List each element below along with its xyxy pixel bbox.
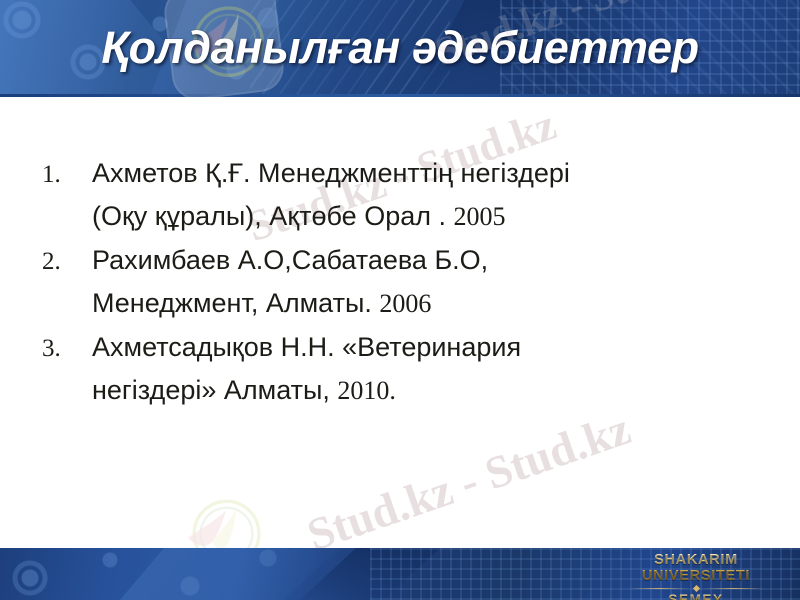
header-bottom-edge xyxy=(0,94,800,97)
list-item: Ахметов Қ.Ғ. Менеджменттің негіздері (Оқ… xyxy=(92,152,770,238)
reference-year: 2010. xyxy=(337,376,396,405)
reference-line-1: Рахимбаев А.О,Сабатаева Б.О, xyxy=(92,245,488,275)
footer-ornament-meander-pattern xyxy=(370,548,800,600)
reference-line-2: негіздері» Алматы, xyxy=(92,375,337,405)
reference-list: Ахметов Қ.Ғ. Менеджменттің негіздері (Оқ… xyxy=(40,152,770,412)
reference-line-2: Менеджмент, Алматы. xyxy=(92,288,379,318)
page-title: Қолданылған әдебиеттер xyxy=(0,22,800,74)
list-item: Ахметсадықов Н.Н. «Ветеринария негіздері… xyxy=(92,326,770,412)
watermark-lower: Stud.kz - Stud.kz xyxy=(301,402,637,562)
list-item: Рахимбаев А.О,Сабатаева Б.О, Менеджмент,… xyxy=(92,239,770,325)
reference-line-1: Ахметсадықов Н.Н. «Ветеринария xyxy=(92,332,521,362)
slide-footer-banner xyxy=(0,548,800,600)
slide-content: Ахметов Қ.Ғ. Менеджменттің негіздері (Оқ… xyxy=(40,152,770,413)
reference-line-2: (Оқу құралы), Ақтөбе Орал . xyxy=(92,201,453,231)
reference-line-1: Ахметов Қ.Ғ. Менеджменттің негіздері xyxy=(92,158,570,188)
presentation-slide: Қолданылған әдебиеттер Stud.kz - Stud St… xyxy=(0,0,800,600)
reference-year: 2006 xyxy=(379,289,431,318)
reference-year: 2005 xyxy=(453,202,505,231)
